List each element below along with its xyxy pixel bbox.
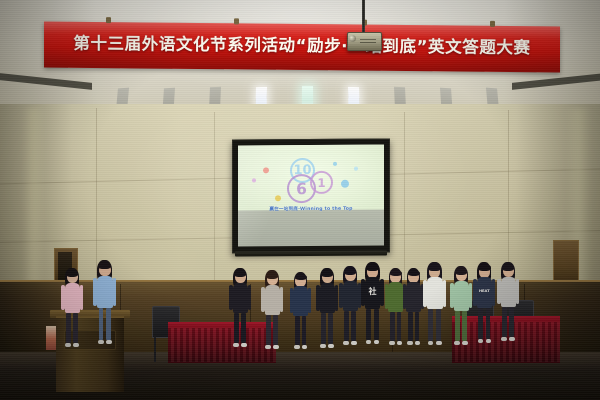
projected-slide: 1061 (238, 144, 384, 210)
contestant-1-shoe-2 (241, 343, 246, 347)
contestant-9-shoe-1 (428, 341, 434, 345)
contestant-4-shoe-1 (320, 344, 326, 348)
contestant-2-shoe-2 (273, 345, 278, 349)
contestant-11-hair-top (478, 264, 491, 271)
contestant-12-arm-1 (497, 279, 500, 305)
contestant-1-torso (233, 283, 248, 313)
contestant-7-arm-1 (385, 284, 388, 309)
contestant-7-shoe-2 (397, 341, 402, 345)
contestant-6-leg-2 (374, 309, 379, 341)
contestant-5-leg-1 (344, 311, 349, 341)
contestant-3 (291, 272, 311, 366)
chair-left-1-leg-1 (154, 336, 156, 362)
slide-dot-6 (354, 167, 358, 171)
host-male-hair-top (98, 262, 111, 269)
host-female-arm-1 (61, 285, 64, 311)
contestant-12-arm-2 (516, 279, 519, 305)
contestant-3-torso (293, 286, 308, 315)
contestant-2-leg-1 (266, 315, 271, 345)
contestant-12-shoe-1 (501, 337, 506, 341)
host-female-hair-top (66, 270, 78, 277)
contestant-4-torso (320, 283, 335, 314)
contestant-1-arm-2 (248, 285, 251, 311)
contestant-1-arm-1 (229, 285, 232, 311)
contestant-12-leg-2 (509, 307, 514, 337)
contestant-2-shoe-1 (265, 345, 270, 349)
podium-papers (46, 326, 56, 350)
judges-table-left-drape (168, 328, 276, 362)
host-male (94, 260, 116, 364)
slide-decorative-dots (238, 144, 384, 145)
contestant-3-arm-1 (290, 288, 293, 313)
contestant-6-shirt-text: 社 (365, 286, 381, 297)
contestant-2-torso (265, 285, 280, 315)
contestant-10-leg-2 (462, 311, 467, 341)
contestant-10-hair-top (455, 268, 467, 275)
contestant-5 (340, 266, 360, 362)
contestant-11-shirt-text: HEAT (477, 286, 492, 296)
contestant-5-hair-top (344, 268, 356, 275)
slide-dot-5 (333, 162, 337, 166)
contestant-5-shoe-2 (351, 341, 356, 345)
contestant-9-arm-2 (443, 280, 446, 307)
event-banner: 第十三届外语文化节系列活动“励步·一站到底”英文答题大赛 (44, 22, 560, 73)
contestant-2-leg-2 (273, 315, 278, 345)
contestant-5-leg-2 (351, 311, 356, 341)
contestant-2-arm-2 (280, 287, 283, 313)
contestant-3-leg-1 (295, 316, 300, 345)
slide-dot-2 (275, 195, 281, 201)
host-female-torso (65, 283, 80, 313)
contestant-3-leg-2 (302, 316, 307, 345)
host-male-leg-1 (99, 308, 104, 340)
contestant-11-leg-1 (478, 308, 483, 339)
contestant-2-arm-1 (261, 287, 264, 313)
contestant-7-leg-1 (390, 312, 395, 341)
contestant-9-hair-top (428, 264, 441, 271)
contestant-10-torso (454, 281, 469, 311)
contestant-4 (317, 268, 337, 366)
contestant-9-leg-2 (436, 309, 441, 341)
contestant-12-hair-top (502, 264, 514, 271)
contestant-12-shoe-2 (509, 337, 514, 341)
contestant-10 (451, 266, 471, 362)
contestant-4-leg-1 (321, 313, 326, 344)
contestant-9-shoe-2 (436, 341, 442, 345)
contestant-8-shoe-1 (407, 341, 412, 345)
contestant-3-shoe-2 (302, 345, 307, 349)
slide-caption: 赢在一站到底·Winning to the Top (238, 205, 384, 212)
contestant-8-leg-2 (415, 312, 420, 341)
banner-text: 第十三届外语文化节系列活动“励步·一站到底”英文答题大赛 (44, 30, 560, 59)
contestant-11: HEAT (474, 262, 495, 361)
contestant-1-hair-top (234, 270, 246, 277)
slide-number-1: 1 (310, 171, 333, 194)
contestant-11-arm-2 (492, 279, 495, 306)
contestant-7-shoe-1 (389, 341, 394, 345)
contestant-11-shoe-2 (486, 339, 492, 343)
auditorium-photo: 第十三届外语文化节系列活动“励步·一站到底”英文答题大赛 1061 赢在一站到底… (0, 0, 600, 400)
contestant-7-torso (388, 282, 403, 311)
contestant-10-shoe-1 (454, 341, 459, 345)
contestant-4-arm-2 (335, 285, 338, 311)
contestant-6-leg-1 (366, 309, 371, 341)
projector-lens-icon (349, 35, 356, 42)
contestant-5-torso (343, 281, 358, 311)
host-female-arm-2 (80, 285, 83, 311)
projector-mount-pole (362, 0, 365, 34)
host-female (62, 268, 82, 364)
contestant-3-arm-2 (308, 288, 311, 313)
contestant-7-leg-2 (397, 312, 402, 341)
contestant-1-leg-1 (234, 313, 239, 343)
contestant-10-shoe-2 (462, 341, 467, 345)
contestant-4-leg-2 (328, 313, 333, 344)
contestant-1-shoe-1 (233, 343, 238, 347)
contestant-6-shoe-2 (374, 340, 380, 344)
projection-screen: 1061 赢在一站到底·Winning to the Top (232, 138, 390, 253)
contestant-11-shoe-1 (478, 339, 484, 343)
contestant-9 (424, 262, 445, 364)
contestant-8-shoe-2 (415, 341, 420, 345)
contestant-1 (230, 268, 250, 364)
contestant-10-arm-1 (450, 283, 453, 309)
contestant-10-arm-2 (469, 283, 472, 309)
contestant-6-arm-2 (380, 279, 383, 306)
host-female-shoe-1 (65, 343, 70, 347)
projector-vent-2 (360, 42, 376, 43)
contestant-4-arm-1 (316, 285, 319, 311)
screen-weight-bar (235, 250, 387, 256)
host-male-shoe-1 (98, 340, 104, 344)
contestant-6: 社 (362, 262, 383, 363)
contestant-2 (262, 270, 282, 366)
host-female-leg-2 (73, 313, 78, 343)
contestant-8-hair-top (408, 270, 420, 277)
contestant-5-arm-2 (358, 283, 361, 309)
host-female-shoe-2 (73, 343, 78, 347)
host-male-shoe-2 (106, 340, 112, 344)
contestant-3-hair-top (295, 274, 307, 281)
contestant-8-arm-1 (403, 284, 406, 309)
host-female-leg-1 (66, 313, 71, 343)
contestant-12-torso (501, 277, 516, 307)
projector-vent-1 (360, 39, 376, 40)
contestant-9-torso (427, 277, 443, 309)
banner-tie-4 (490, 21, 495, 27)
contestant-4-shoe-2 (328, 344, 334, 348)
screen-surface: 1061 赢在一站到底·Winning to the Top (238, 144, 384, 246)
slide-dot-1 (263, 167, 269, 173)
contestant-5-arm-1 (339, 283, 342, 309)
contestant-8 (404, 268, 424, 362)
host-male-arm-2 (113, 278, 116, 306)
contestant-11-leg-2 (486, 308, 491, 339)
contestant-2-hair-top (266, 272, 278, 279)
host-male-leg-2 (106, 308, 111, 340)
slide-dot-4 (341, 180, 349, 188)
slide-dot-3 (252, 178, 256, 182)
banner-tie-2 (234, 18, 239, 24)
slide-number-circles: 1061 (238, 144, 384, 145)
contestant-6-shoe-1 (366, 340, 372, 344)
contestant-8-torso (406, 282, 421, 311)
contestant-7-hair-top (390, 270, 402, 277)
contestant-8-leg-1 (408, 312, 413, 341)
banner-tie-1 (106, 17, 111, 23)
contestant-1-leg-2 (241, 313, 246, 343)
contestant-9-arm-1 (423, 280, 426, 307)
contestant-10-leg-1 (455, 311, 460, 341)
contestant-6-hair-top (366, 264, 379, 271)
host-male-torso (97, 276, 113, 308)
contestant-7 (386, 268, 406, 362)
contestant-4-hair-top (321, 270, 334, 277)
contestant-12-leg-1 (502, 307, 507, 337)
contestant-9-leg-1 (428, 309, 433, 341)
contestant-12 (498, 262, 518, 358)
contestant-5-shoe-1 (343, 341, 348, 345)
contestant-3-shoe-1 (294, 345, 299, 349)
host-male-arm-1 (93, 278, 96, 306)
